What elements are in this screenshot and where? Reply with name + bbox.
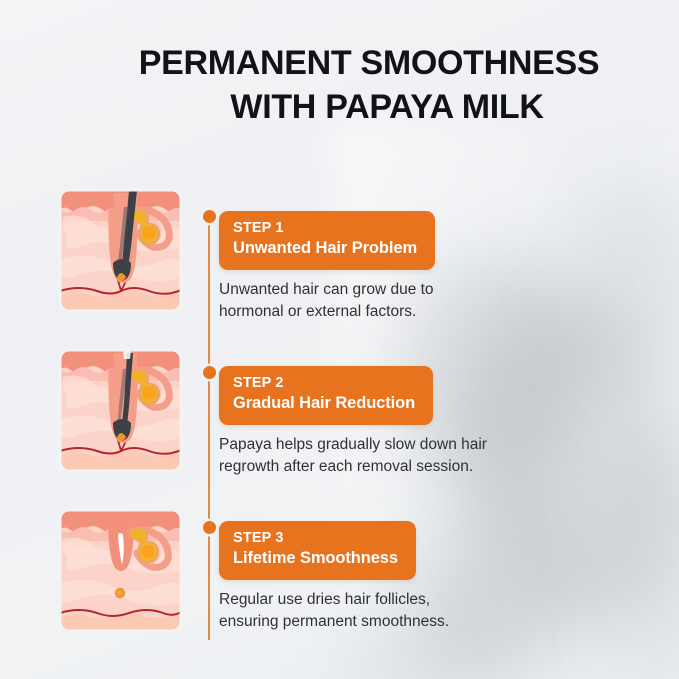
step-1-kicker: STEP 1 (233, 219, 417, 237)
timeline-dot-step-1 (203, 210, 216, 223)
timeline-rail (208, 216, 210, 640)
page-title: PERMANENT SMOOTHNESS WITH PAPAYA MILK (60, 42, 640, 129)
step-1-body-line-1: Unwanted hair can grow due to (219, 279, 435, 301)
step-2-heading: Gradual Hair Reduction (233, 393, 415, 414)
page-title-line-1: PERMANENT SMOOTHNESS (60, 42, 640, 86)
step-3-kicker: STEP 3 (233, 529, 398, 547)
step-badge-2[interactable]: STEP 2 Gradual Hair Reduction (219, 366, 433, 425)
infographic-canvas: PERMANENT SMOOTHNESS WITH PAPAYA MILK (0, 0, 679, 679)
shadow-blob (470, 300, 679, 630)
illustration-step-1 (57, 187, 184, 314)
timeline-dot-step-2 (203, 366, 216, 379)
step-3-body-line-1: Regular use dries hair follicles, (219, 589, 449, 611)
step-row-2: STEP 2 Gradual Hair Reduction Papaya hel… (219, 366, 487, 478)
shadow-blob (600, 430, 679, 679)
timeline-dot-step-3 (203, 521, 216, 534)
shadow-blob (560, 180, 679, 380)
step-2-body-line-2: regrowth after each removal session. (219, 456, 487, 478)
step-badge-1[interactable]: STEP 1 Unwanted Hair Problem (219, 211, 435, 270)
step-3-heading: Lifetime Smoothness (233, 548, 398, 569)
step-3-body-line-2: ensuring permanent smoothness. (219, 611, 449, 633)
step-row-1: STEP 1 Unwanted Hair Problem Unwanted ha… (219, 211, 435, 323)
page-title-line-2: WITH PAPAYA MILK (60, 86, 640, 130)
illustration-step-2 (57, 347, 184, 474)
step-2-kicker: STEP 2 (233, 374, 415, 392)
step-2-body-line-1: Papaya helps gradually slow down hair (219, 434, 487, 456)
step-1-heading: Unwanted Hair Problem (233, 238, 417, 259)
shadow-blob (430, 470, 580, 679)
step-2-body: Papaya helps gradually slow down hair re… (219, 434, 487, 478)
step-row-3: STEP 3 Lifetime Smoothness Regular use d… (219, 521, 449, 633)
step-badge-3[interactable]: STEP 3 Lifetime Smoothness (219, 521, 416, 580)
step-1-body-line-2: hormonal or external factors. (219, 301, 435, 323)
step-3-body: Regular use dries hair follicles, ensuri… (219, 589, 449, 633)
illustration-step-3 (57, 507, 184, 634)
step-1-body: Unwanted hair can grow due to hormonal o… (219, 279, 435, 323)
